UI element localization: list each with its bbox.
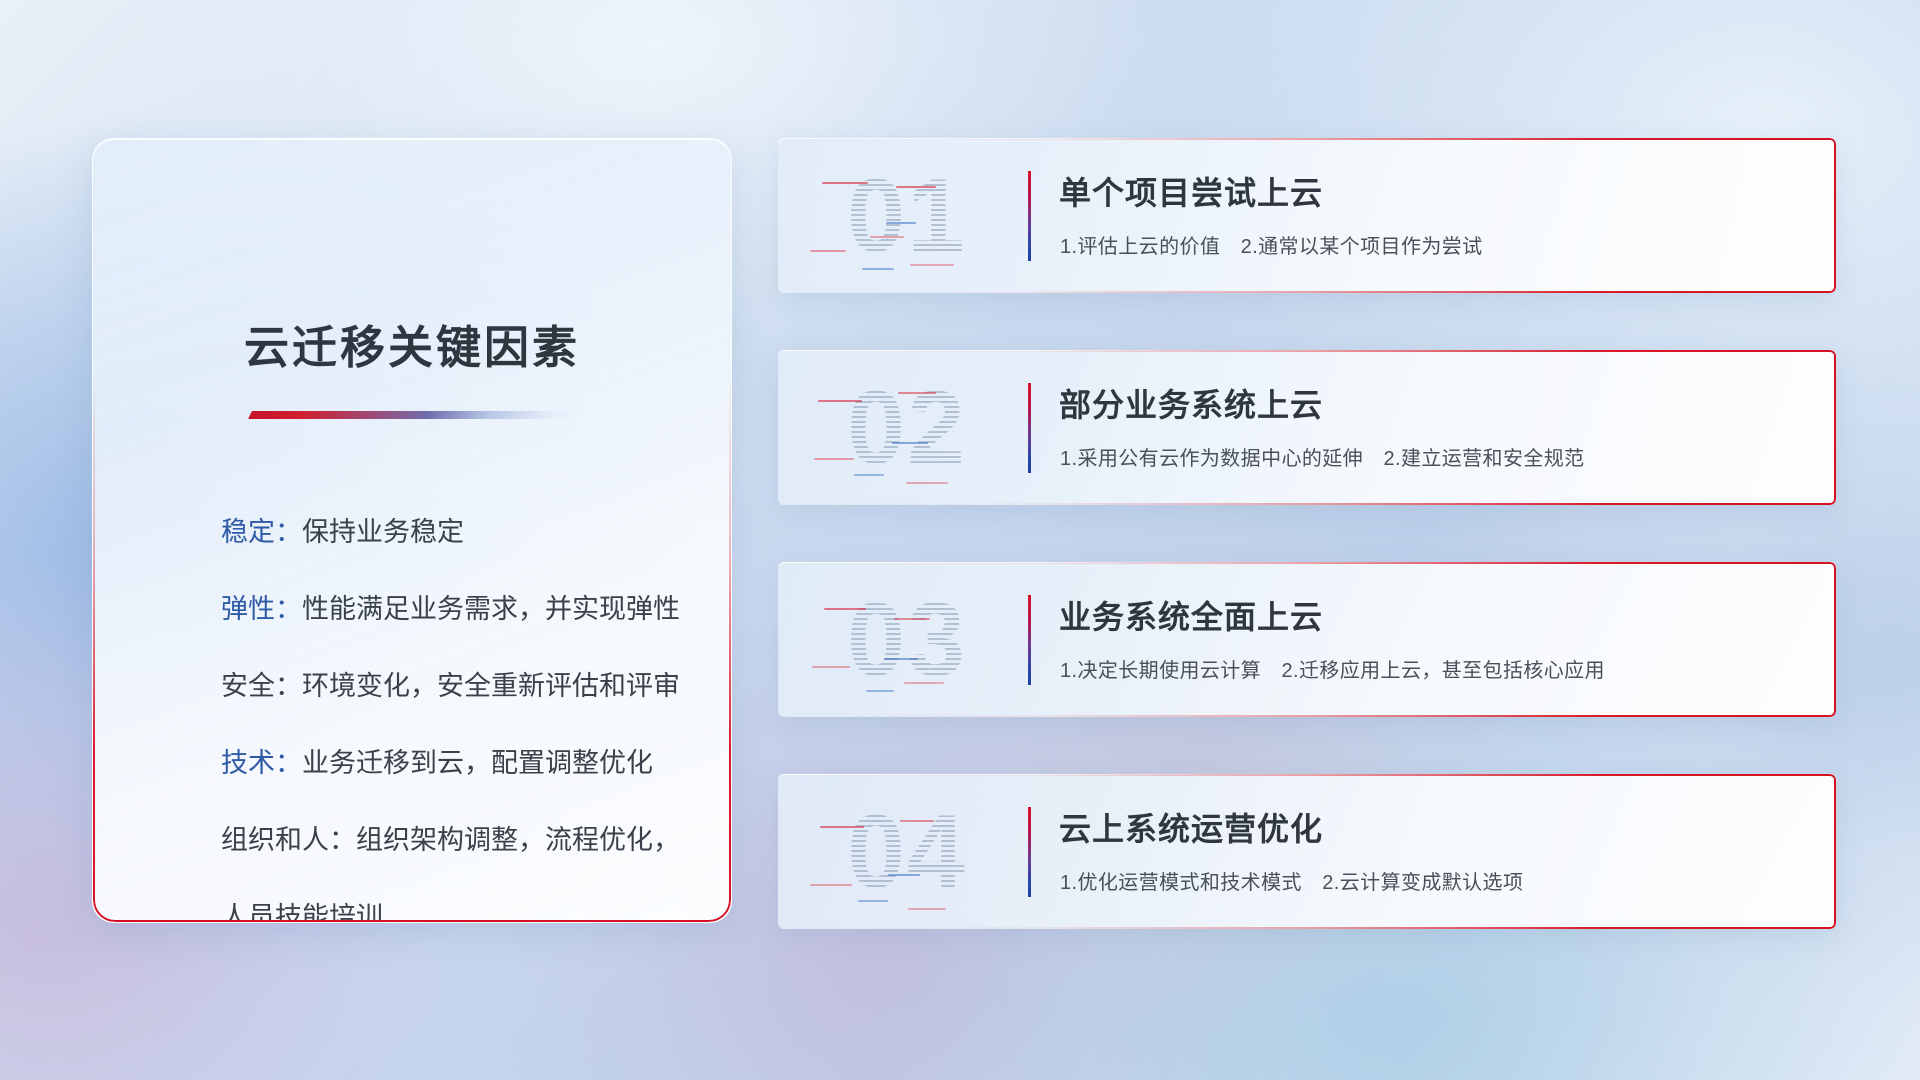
watermark-streak-red bbox=[898, 392, 936, 394]
watermark-streak-red bbox=[820, 826, 864, 828]
factor-key: 技术： bbox=[221, 748, 302, 778]
watermark-streak-red bbox=[812, 666, 850, 668]
factor-value: 环境变化，安全重新评估和评审 bbox=[302, 671, 680, 701]
stage-title: 单个项目尝试上云 bbox=[1059, 168, 1323, 214]
list-item: 稳定：保持业务稳定 bbox=[221, 519, 677, 546]
key-factors-list: 稳定：保持业务稳定 弹性：性能满足业务需求，并实现弹性 安全：环境变化，安全重新… bbox=[221, 519, 677, 923]
stage-number-watermark-wrap: 03 bbox=[778, 562, 1008, 717]
watermark-streak-blue bbox=[888, 874, 920, 876]
watermark-streak-red bbox=[810, 250, 846, 252]
stage-card-list: 01 单个项目尝试上云 1.评估上云的价值 2.通常以某个项目作为尝试 02 bbox=[778, 138, 1836, 929]
stage-card-03[interactable]: 03 业务系统全面上云 1.决定长期使用云计算 2.迁移应用上云，甚至包括核心应… bbox=[778, 562, 1836, 717]
factor-value: 人员技能培训 bbox=[221, 902, 383, 923]
stage-title: 部分业务系统上云 bbox=[1059, 380, 1323, 426]
watermark-streak-blue bbox=[892, 442, 928, 444]
stage-description: 1.评估上云的价值 2.通常以某个项目作为尝试 bbox=[1060, 230, 1483, 259]
stage-number-watermark: 01 bbox=[812, 138, 1002, 293]
watermark-streak-blue bbox=[862, 268, 894, 270]
watermark-streak-red bbox=[906, 482, 948, 484]
factor-key: 安全： bbox=[221, 671, 302, 701]
factor-value: 性能满足业务需求，并实现弹性 bbox=[302, 594, 680, 624]
watermark-streak-red bbox=[822, 182, 868, 184]
list-item: 组织和人：组织架构调整，流程优化， bbox=[221, 827, 677, 854]
list-item: 安全：环境变化，安全重新评估和评审 bbox=[221, 673, 677, 700]
stage-description: 1.优化运营模式和技术模式 2.云计算变成默认选项 bbox=[1060, 866, 1523, 895]
stage-number-watermark-wrap: 01 bbox=[778, 138, 1008, 293]
stage-number-watermark: 03 bbox=[812, 562, 1002, 717]
list-item: 弹性：性能满足业务需求，并实现弹性 bbox=[221, 596, 677, 623]
watermark-streak-red bbox=[900, 820, 934, 822]
key-factors-panel: 云迁移关键因素 稳定：保持业务稳定 弹性：性能满足业务需求，并实现弹性 安全：环… bbox=[92, 138, 732, 923]
watermark-streak-red bbox=[904, 682, 944, 684]
stage-number-watermark-wrap: 04 bbox=[778, 774, 1008, 929]
stage-accent-bar bbox=[1028, 595, 1031, 685]
watermark-streak-blue bbox=[866, 690, 894, 692]
watermark-streak-red bbox=[908, 908, 946, 910]
stage-card-04[interactable]: 04 云上系统运营优化 1.优化运营模式和技术模式 2.云计算变成默认选项 bbox=[778, 774, 1836, 929]
slide-stage: 云迁移关键因素 稳定：保持业务稳定 弹性：性能满足业务需求，并实现弹性 安全：环… bbox=[0, 0, 1920, 1080]
watermark-streak-red bbox=[870, 236, 904, 238]
watermark-streak-red bbox=[810, 884, 852, 886]
stage-accent-bar bbox=[1028, 171, 1031, 261]
watermark-streak-blue bbox=[858, 900, 888, 902]
factor-key: 组织和人： bbox=[221, 825, 356, 855]
stage-accent-bar bbox=[1028, 807, 1031, 897]
stage-title: 业务系统全面上云 bbox=[1059, 592, 1323, 638]
stage-accent-bar bbox=[1028, 383, 1031, 473]
factor-key: 弹性： bbox=[221, 594, 302, 624]
watermark-streak-red bbox=[818, 400, 862, 402]
factor-value: 组织架构调整，流程优化， bbox=[356, 825, 680, 855]
list-item: 技术：业务迁移到云，配置调整优化 bbox=[221, 750, 677, 777]
watermark-streak-blue bbox=[886, 222, 916, 224]
watermark-streak-red bbox=[910, 264, 954, 266]
factor-value: 业务迁移到云，配置调整优化 bbox=[302, 748, 653, 778]
stage-title: 云上系统运营优化 bbox=[1059, 804, 1323, 850]
watermark-streak-blue bbox=[854, 474, 884, 476]
title-underline-accent bbox=[248, 411, 582, 419]
stage-number-watermark-wrap: 02 bbox=[778, 350, 1008, 505]
stage-description: 1.决定长期使用云计算 2.迁移应用上云，甚至包括核心应用 bbox=[1060, 654, 1605, 683]
watermark-streak-blue bbox=[884, 658, 918, 660]
watermark-streak-red bbox=[894, 618, 930, 620]
stage-card-01[interactable]: 01 单个项目尝试上云 1.评估上云的价值 2.通常以某个项目作为尝试 bbox=[778, 138, 1836, 293]
list-item: 人员技能培训 bbox=[221, 904, 677, 923]
stage-description: 1.采用公有云作为数据中心的延伸 2.建立运营和安全规范 bbox=[1060, 442, 1585, 471]
watermark-streak-red bbox=[896, 186, 936, 188]
page-title: 云迁移关键因素 bbox=[93, 311, 731, 376]
stage-number-watermark: 04 bbox=[812, 774, 1002, 929]
watermark-streak-red bbox=[824, 608, 866, 610]
stage-card-02[interactable]: 02 部分业务系统上云 1.采用公有云作为数据中心的延伸 2.建立运营和安全规范 bbox=[778, 350, 1836, 505]
watermark-streak-red bbox=[814, 458, 854, 460]
factor-key: 稳定： bbox=[221, 517, 302, 547]
factor-value: 保持业务稳定 bbox=[302, 517, 464, 547]
